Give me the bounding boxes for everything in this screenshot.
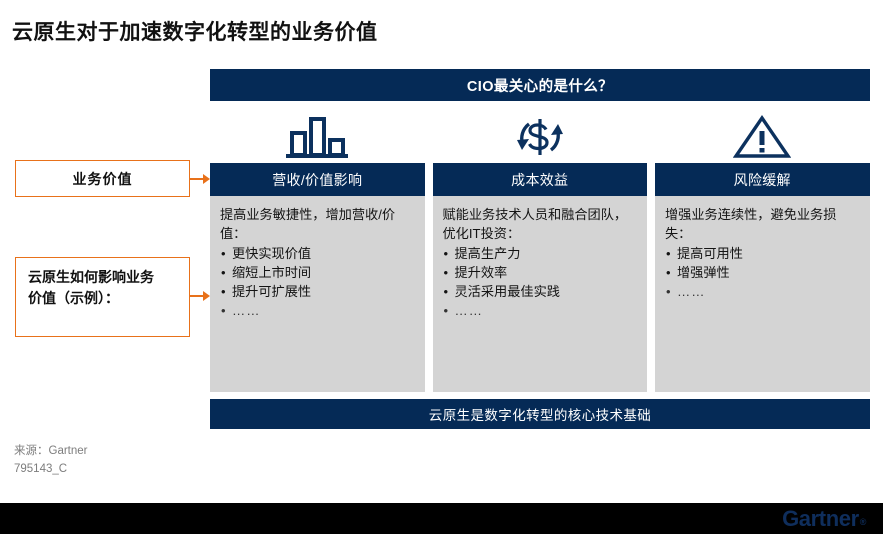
list-item: 提升效率 — [443, 263, 638, 282]
matrix-header-bar: CIO最关心的是什么？ — [210, 69, 870, 101]
bar-chart-icon — [210, 110, 425, 163]
column-bullets-risk: 提高可用性 增强弹性 …… — [665, 244, 860, 301]
list-item: …… — [220, 301, 415, 320]
source-line-2: 795143_C — [14, 460, 88, 478]
matrix-header-label: CIO最关心的是什么？ — [467, 75, 613, 96]
page-title: 云原生对于加速数字化转型的业务价值 — [12, 16, 378, 46]
matrix-footer-label: 云原生是数字化转型的核心技术基础 — [429, 404, 651, 424]
callout-arrow-1 — [190, 174, 210, 184]
column-bullets-revenue: 更快实现价值 缩短上市时间 提升可扩展性 …… — [220, 244, 415, 320]
callout-business-value-label: 业务价值 — [73, 169, 133, 189]
warning-triangle-icon — [655, 110, 870, 163]
arrow-head-icon — [203, 291, 210, 301]
callout-cloud-native-impact-line1: 云原生如何影响业务 — [28, 268, 179, 289]
list-item: …… — [443, 301, 638, 320]
bottom-bar: Gartner® — [0, 503, 883, 534]
column-header-risk-label: 风险缓解 — [734, 170, 791, 190]
registered-mark-icon: ® — [860, 517, 866, 527]
list-item: 缩短上市时间 — [220, 263, 415, 282]
gartner-logo: Gartner® — [782, 506, 865, 532]
column-body-risk: 增强业务连续性，避免业务损失： 提高可用性 增强弹性 …… — [655, 196, 870, 392]
matrix-footer-bar: 云原生是数字化转型的核心技术基础 — [210, 399, 870, 429]
column-lead-cost: 赋能业务技术人员和融合团队，优化IT投资： — [443, 205, 638, 243]
column-header-revenue-label: 营收/价值影响 — [272, 170, 362, 190]
callout-cloud-native-impact: 云原生如何影响业务 价值（示例）： — [15, 257, 190, 337]
column-body-revenue: 提高业务敏捷性，增加营收/价值： 更快实现价值 缩短上市时间 提升可扩展性 …… — [210, 196, 425, 392]
list-item: 灵活采用最佳实践 — [443, 282, 638, 301]
source-note: 来源：Gartner 795143_C — [14, 442, 88, 478]
column-header-cost-label: 成本效益 — [511, 170, 568, 190]
matrix-column-risk: 风险缓解 增强业务连续性，避免业务损失： 提高可用性 增强弹性 …… — [655, 110, 870, 392]
column-bullets-cost: 提高生产力 提升效率 灵活采用最佳实践 …… — [443, 244, 638, 320]
arrow-shaft — [190, 178, 203, 180]
list-item: 增强弹性 — [665, 263, 860, 282]
arrow-head-icon — [203, 174, 210, 184]
source-line-1: 来源：Gartner — [14, 442, 88, 460]
matrix-column-revenue: 营收/价值影响 提高业务敏捷性，增加营收/价值： 更快实现价值 缩短上市时间 提… — [210, 110, 425, 392]
column-lead-risk: 增强业务连续性，避免业务损失： — [665, 205, 860, 243]
callout-business-value: 业务价值 — [15, 160, 190, 197]
callout-arrow-2 — [190, 291, 210, 301]
column-header-risk: 风险缓解 — [655, 163, 870, 196]
list-item: 更快实现价值 — [220, 244, 415, 263]
matrix-column-cost: 成本效益 赋能业务技术人员和融合团队，优化IT投资： 提高生产力 提升效率 灵活… — [433, 110, 648, 392]
value-matrix: CIO最关心的是什么？ 营收/价值影响 提高业务敏捷性，增加营收/价值： — [210, 69, 870, 429]
list-item: 提升可扩展性 — [220, 282, 415, 301]
column-header-revenue: 营收/价值影响 — [210, 163, 425, 196]
list-item: …… — [665, 282, 860, 301]
list-item: 提高生产力 — [443, 244, 638, 263]
arrow-shaft — [190, 295, 203, 297]
list-item: 提高可用性 — [665, 244, 860, 263]
matrix-columns: 营收/价值影响 提高业务敏捷性，增加营收/价值： 更快实现价值 缩短上市时间 提… — [210, 110, 870, 392]
dollar-cycle-icon — [433, 110, 648, 163]
callout-cloud-native-impact-line2: 价值（示例）： — [28, 289, 179, 310]
gartner-logo-text: Gartner — [782, 506, 859, 531]
column-lead-revenue: 提高业务敏捷性，增加营收/价值： — [220, 205, 415, 243]
column-header-cost: 成本效益 — [433, 163, 648, 196]
column-body-cost: 赋能业务技术人员和融合团队，优化IT投资： 提高生产力 提升效率 灵活采用最佳实… — [433, 196, 648, 392]
